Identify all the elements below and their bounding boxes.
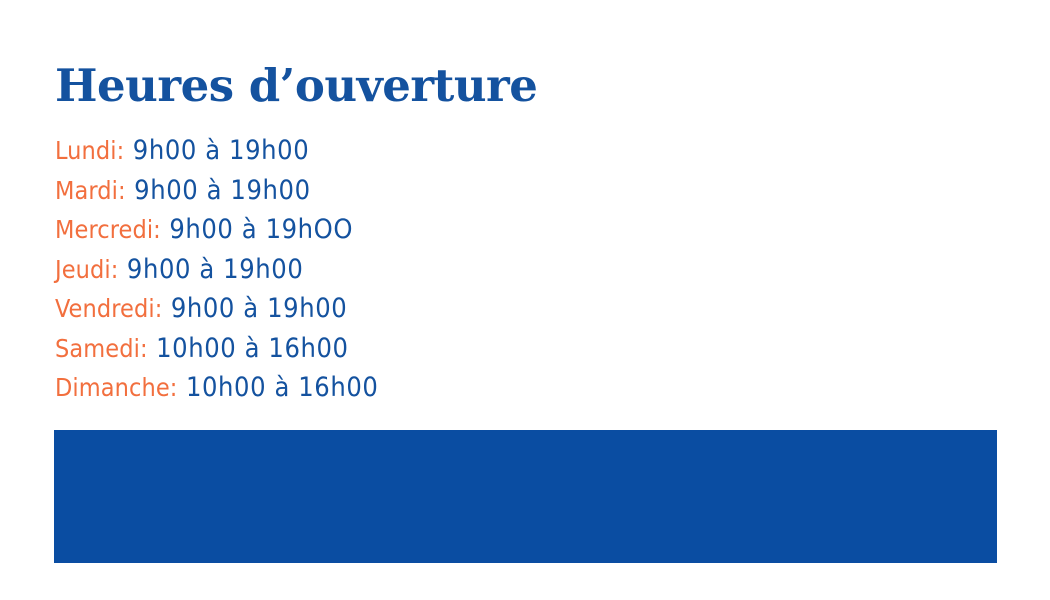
list-item: Dimanche: 10h00 à 16h00 <box>55 368 378 408</box>
list-item: Jeudi: 9h00 à 19h00 <box>55 250 378 290</box>
time-value: 9h00 à 19h00 <box>134 175 310 206</box>
opening-hours-slide: Heures d’ouverture Lundi: 9h00 à 19h00 M… <box>0 0 1050 600</box>
time-value: 9h00 à 19hOO <box>169 214 353 245</box>
time-value: 9h00 à 19h00 <box>127 254 303 285</box>
list-item: Mercredi: 9h00 à 19hOO <box>55 210 378 250</box>
day-label: Dimanche: <box>55 373 177 402</box>
day-label: Mardi: <box>55 176 126 205</box>
time-value: 10h00 à 16h00 <box>186 372 379 403</box>
time-value: 9h00 à 19h00 <box>133 135 309 166</box>
banner-block <box>54 430 997 563</box>
day-label: Lundi: <box>55 136 124 165</box>
time-value: 10h00 à 16h00 <box>156 333 349 364</box>
day-label: Samedi: <box>55 334 148 363</box>
day-label: Jeudi: <box>55 255 118 284</box>
list-item: Lundi: 9h00 à 19h00 <box>55 131 378 171</box>
opening-hours-list: Lundi: 9h00 à 19h00 Mardi: 9h00 à 19h00 … <box>55 131 378 408</box>
list-item: Vendredi: 9h00 à 19h00 <box>55 289 378 329</box>
day-label: Vendredi: <box>55 294 162 323</box>
page-title: Heures d’ouverture <box>55 62 537 109</box>
day-label: Mercredi: <box>55 215 161 244</box>
list-item: Samedi: 10h00 à 16h00 <box>55 329 378 369</box>
list-item: Mardi: 9h00 à 19h00 <box>55 171 378 211</box>
time-value: 9h00 à 19h00 <box>171 293 347 324</box>
